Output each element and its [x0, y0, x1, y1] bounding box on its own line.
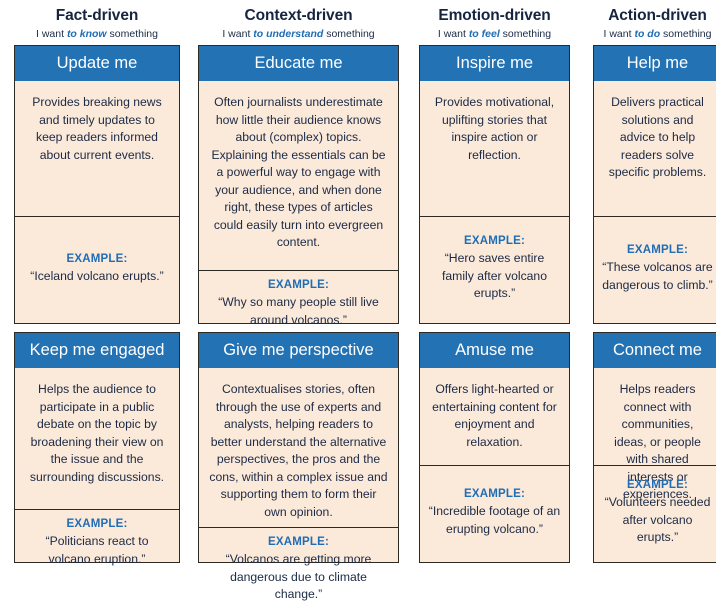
card-description: Provides motivational, uplifting stories…	[430, 94, 559, 164]
card-description-area: Provides motivational, uplifting stories…	[420, 81, 569, 217]
card-example-area: EXAMPLE: “Volunteers needed after volcan…	[594, 466, 716, 562]
column-title: Context-driven	[198, 6, 399, 26]
card-description: Delivers practical solutions and advice …	[604, 94, 711, 182]
subtitle-post: something	[500, 28, 551, 40]
card-description: Often journalists underestimate how litt…	[209, 94, 388, 252]
card-connect-me[interactable]: Connect me Helps readers connect with co…	[593, 332, 716, 563]
example-text: “Politicians react to volcano eruption.”	[23, 533, 171, 568]
column-action-driven: Action-driven I want to do something Hel…	[593, 0, 716, 601]
card-title: Keep me engaged	[15, 333, 179, 368]
card-description-area: Contextualises stories, often through th…	[199, 368, 398, 528]
column-subtitle: I want to know something	[14, 27, 180, 41]
example-text: “Iceland volcano erupts.”	[30, 268, 163, 286]
card-description-area: Helps readers connect with communities, …	[594, 368, 716, 466]
column-header-action-driven: Action-driven I want to do something	[593, 0, 716, 41]
subtitle-emphasis: to feel	[469, 28, 500, 40]
subtitle-post: something	[323, 28, 374, 40]
column-title: Fact-driven	[14, 6, 180, 26]
column-subtitle: I want to understand something	[198, 27, 399, 41]
user-needs-matrix: Fact-driven I want to know something Upd…	[0, 0, 716, 601]
column-header-fact-driven: Fact-driven I want to know something	[14, 0, 180, 41]
card-description-area: Helps the audience to participate in a p…	[15, 368, 179, 510]
example-label: EXAMPLE:	[627, 244, 688, 256]
subtitle-pre: I want	[36, 28, 67, 40]
card-inspire-me[interactable]: Inspire me Provides motivational, uplift…	[419, 45, 570, 324]
subtitle-post: something	[107, 28, 158, 40]
card-amuse-me[interactable]: Amuse me Offers light-hearted or enterta…	[419, 332, 570, 563]
card-title: Connect me	[594, 333, 716, 368]
example-label: EXAMPLE:	[66, 518, 127, 530]
subtitle-pre: I want	[438, 28, 469, 40]
example-text: “Volunteers needed after volcano erupts.…	[602, 494, 713, 547]
card-title: Inspire me	[420, 46, 569, 81]
card-title: Help me	[594, 46, 716, 81]
column-title: Action-driven	[593, 6, 716, 26]
card-description-area: Delivers practical solutions and advice …	[594, 81, 716, 217]
example-text: “Volcanos are getting more dangerous due…	[207, 551, 390, 604]
card-update-me[interactable]: Update me Provides breaking news and tim…	[14, 45, 180, 324]
card-description: Contextualises stories, often through th…	[209, 381, 388, 521]
example-label: EXAMPLE:	[268, 536, 329, 548]
column-subtitle: I want to do something	[593, 27, 716, 41]
card-title: Update me	[15, 46, 179, 81]
example-text: “Incredible footage of an erupting volca…	[428, 503, 561, 538]
example-label: EXAMPLE:	[268, 279, 329, 291]
card-help-me[interactable]: Help me Delivers practical solutions and…	[593, 45, 716, 324]
column-fact-driven: Fact-driven I want to know something Upd…	[14, 0, 180, 601]
subtitle-emphasis: to do	[634, 28, 660, 40]
card-give-me-perspective[interactable]: Give me perspective Contextualises stori…	[198, 332, 399, 563]
column-header-emotion-driven: Emotion-driven I want to feel something	[419, 0, 570, 41]
column-subtitle: I want to feel something	[419, 27, 570, 41]
column-title: Emotion-driven	[419, 6, 570, 26]
card-example-area: EXAMPLE: “These volcanos are dangerous t…	[594, 217, 716, 323]
card-example-area: EXAMPLE: “Iceland volcano erupts.”	[15, 217, 179, 323]
subtitle-emphasis: to understand	[253, 28, 323, 40]
example-text: “These volcanos are dangerous to climb.”	[602, 259, 713, 294]
card-description: Provides breaking news and timely update…	[25, 94, 169, 164]
card-example-area: EXAMPLE: “Politicians react to volcano e…	[15, 510, 179, 578]
card-description-area: Offers light-hearted or entertaining con…	[420, 368, 569, 466]
example-text: “Why so many people still live around vo…	[207, 294, 390, 329]
card-keep-me-engaged[interactable]: Keep me engaged Helps the audience to pa…	[14, 332, 180, 563]
example-label: EXAMPLE:	[464, 235, 525, 247]
subtitle-emphasis: to know	[67, 28, 107, 40]
example-text: “Hero saves entire family after volcano …	[428, 250, 561, 303]
example-label: EXAMPLE:	[66, 253, 127, 265]
card-description: Helps the audience to participate in a p…	[25, 381, 169, 486]
columns-grid: Fact-driven I want to know something Upd…	[14, 0, 702, 601]
subtitle-pre: I want	[222, 28, 253, 40]
card-title: Amuse me	[420, 333, 569, 368]
card-description-area: Often journalists underestimate how litt…	[199, 81, 398, 271]
column-emotion-driven: Emotion-driven I want to feel something …	[419, 0, 570, 601]
column-header-context-driven: Context-driven I want to understand some…	[198, 0, 399, 41]
card-educate-me[interactable]: Educate me Often journalists underestima…	[198, 45, 399, 324]
card-example-area: EXAMPLE: “Why so many people still live …	[199, 271, 398, 339]
card-example-area: EXAMPLE: “Incredible footage of an erupt…	[420, 466, 569, 562]
card-example-area: EXAMPLE: “Hero saves entire family after…	[420, 217, 569, 323]
card-title: Educate me	[199, 46, 398, 81]
example-label: EXAMPLE:	[627, 479, 688, 491]
subtitle-post: something	[660, 28, 711, 40]
column-context-driven: Context-driven I want to understand some…	[198, 0, 399, 601]
card-description-area: Provides breaking news and timely update…	[15, 81, 179, 217]
subtitle-pre: I want	[604, 28, 635, 40]
card-title: Give me perspective	[199, 333, 398, 368]
card-description: Offers light-hearted or entertaining con…	[430, 381, 559, 451]
example-label: EXAMPLE:	[464, 488, 525, 500]
